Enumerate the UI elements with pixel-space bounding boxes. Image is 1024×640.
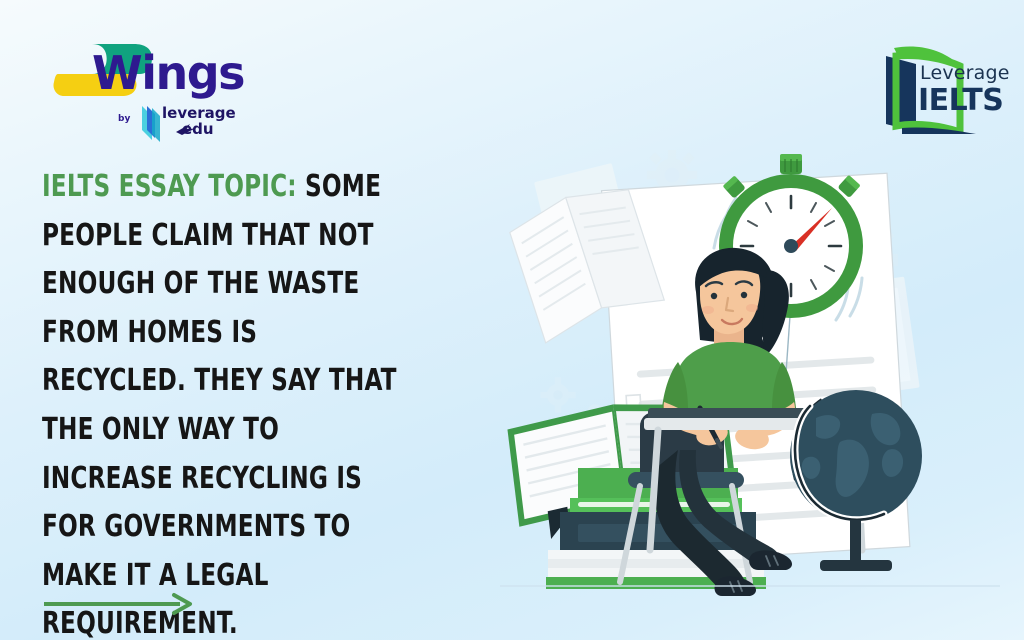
wings-sub-wordmark: leverage edu (162, 106, 236, 138)
banner-canvas: Wings by leverage edu Leverage IELTS IEL… (0, 0, 1024, 640)
ielts-logo-word-bottom: IELTS (918, 86, 1003, 116)
wings-wordmark: Wings (92, 50, 244, 96)
wings-logo[interactable]: Wings by leverage edu (30, 22, 250, 132)
page-title: IELTS ESSAY TOPIC: SOME PEOPLE CLAIM THA… (42, 163, 403, 640)
student-writing-exam-illustration (500, 150, 1000, 600)
wings-by-label: by (118, 114, 130, 124)
arrow-right-icon[interactable] (42, 592, 194, 616)
leverage-edu-swoosh-icon (176, 122, 198, 136)
ielts-logo-word-top: Leverage (920, 64, 1010, 83)
leverage-ielts-logo[interactable]: Leverage IELTS (872, 42, 1012, 134)
headline-label: IELTS ESSAY TOPIC: (42, 169, 297, 204)
headline-body: SOME PEOPLE CLAIM THAT NOT ENOUGH OF THE… (42, 169, 397, 640)
wings-sub-line2: edu (162, 122, 236, 138)
